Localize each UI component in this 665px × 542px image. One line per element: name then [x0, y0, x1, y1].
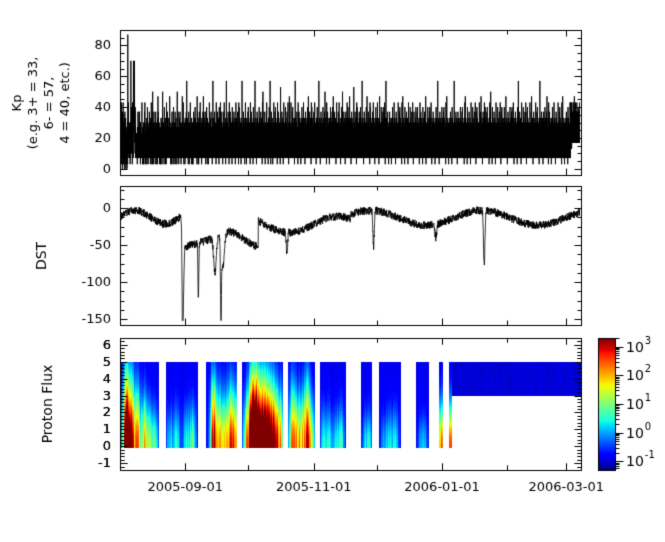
figure-root: Kp DST Proton Flux: [0, 0, 665, 523]
space-weather-figure-canvas: [0, 0, 665, 523]
